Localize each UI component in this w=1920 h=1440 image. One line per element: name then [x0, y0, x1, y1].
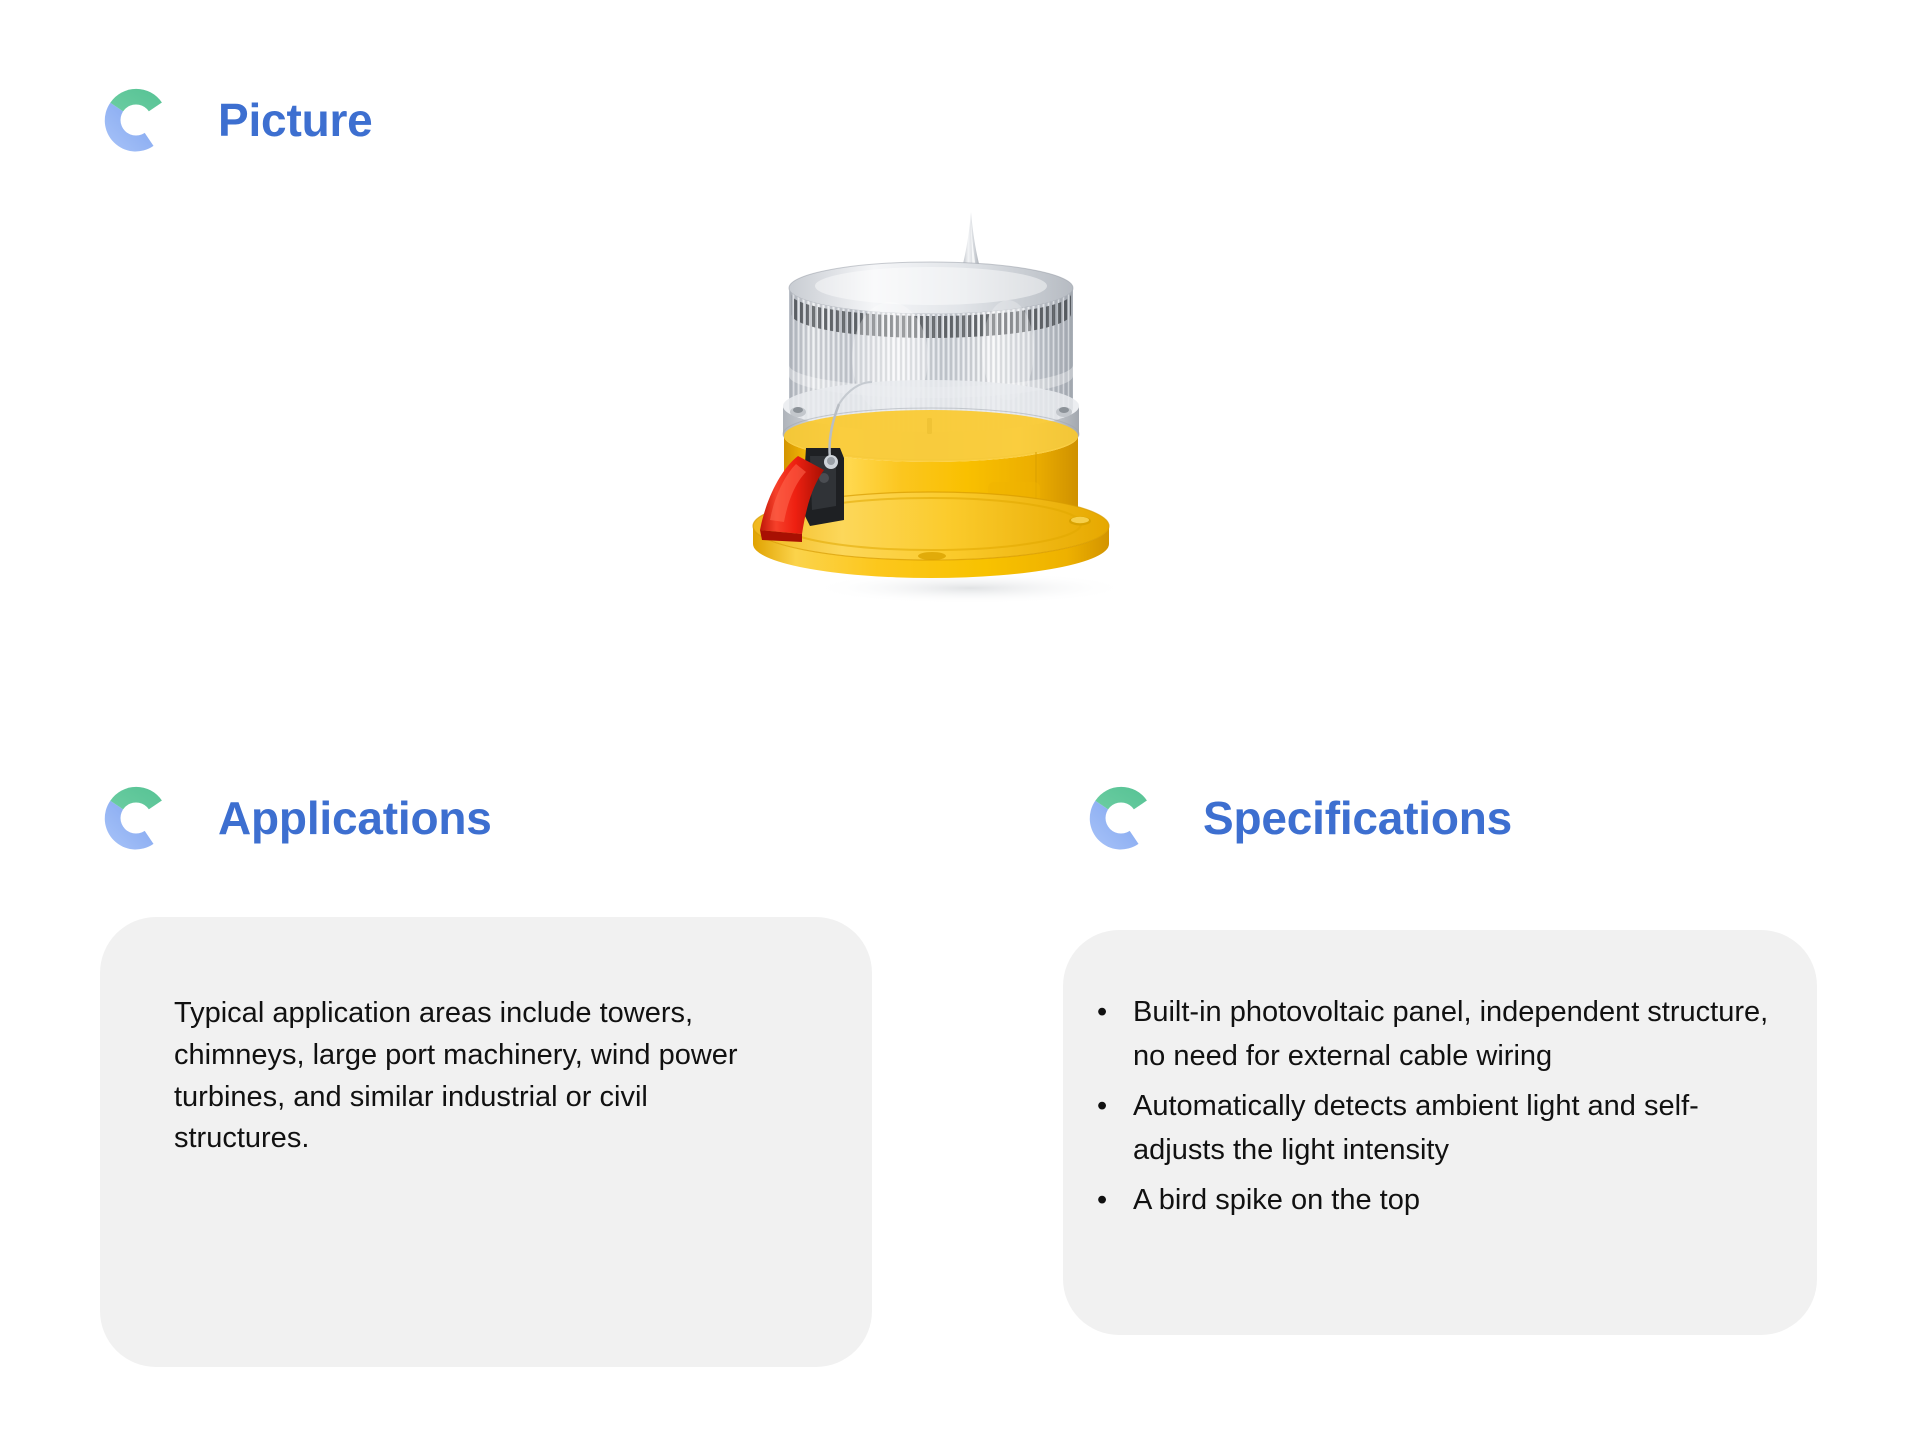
- list-item-label: Built-in photovoltaic panel, independent…: [1133, 996, 1768, 1072]
- section-header-picture: Picture: [100, 84, 373, 156]
- specifications-list: • Built-in photovoltaic panel, independe…: [1091, 990, 1787, 1222]
- list-item: • Built-in photovoltaic panel, independe…: [1091, 990, 1773, 1078]
- list-item: • A bird spike on the top: [1091, 1178, 1773, 1222]
- product-image-obstruction-light: [740, 190, 1200, 610]
- c-ring-logo-icon: [1085, 782, 1157, 854]
- bullet-icon: •: [1097, 1178, 1107, 1222]
- bullet-icon: •: [1097, 990, 1107, 1034]
- specifications-panel: • Built-in photovoltaic panel, independe…: [1063, 930, 1817, 1335]
- c-ring-logo-icon: [100, 782, 172, 854]
- section-title-applications: Applications: [218, 791, 492, 845]
- section-header-specifications: Specifications: [1085, 782, 1512, 854]
- list-item-label: A bird spike on the top: [1133, 1184, 1420, 1216]
- section-header-applications: Applications: [100, 782, 492, 854]
- list-item: • Automatically detects ambient light an…: [1091, 1084, 1773, 1172]
- bullet-icon: •: [1097, 1084, 1107, 1128]
- applications-panel-body: Typical application areas include towers…: [174, 993, 822, 1160]
- applications-text: Typical application areas include towers…: [174, 993, 764, 1160]
- c-ring-logo-icon: [100, 84, 172, 156]
- section-title-picture: Picture: [218, 93, 373, 147]
- list-item-label: Automatically detects ambient light and …: [1133, 1090, 1699, 1166]
- specifications-panel-body: • Built-in photovoltaic panel, independe…: [1091, 990, 1787, 1228]
- applications-panel: Typical application areas include towers…: [100, 917, 872, 1367]
- section-title-specifications: Specifications: [1203, 791, 1512, 845]
